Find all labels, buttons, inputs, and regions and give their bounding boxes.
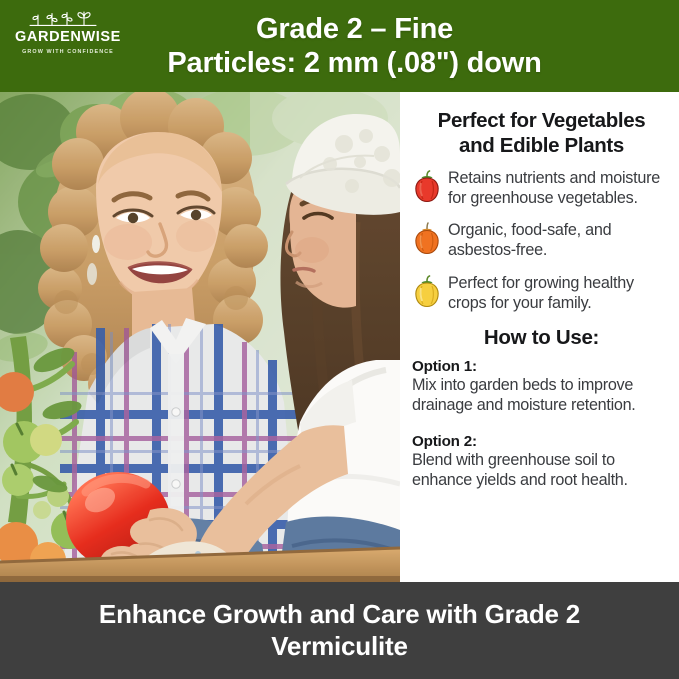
list-item: Organic, food-safe, and asbestos-free. [412,221,671,261]
brand-logo: GARDENWISE GROW WITH CONFIDENCE [14,9,122,55]
orange-bell-pepper-icon [412,222,442,256]
list-item: Perfect for growing healthy crops for yo… [412,274,671,314]
brand-wordmark: GARDENWISE [15,30,121,45]
benefit-text: Retains nutrients and moisture for green… [448,169,671,209]
header-banner: GARDENWISE GROW WITH CONFIDENCE Grade 2 … [0,0,679,92]
benefit-list: Retains nutrients and moisture for green… [412,169,671,314]
list-item: Retains nutrients and moisture for green… [412,169,671,209]
panel-heading-line1: Perfect for Vegetables [438,109,646,132]
benefits-panel: Perfect for Vegetables and Edible Plants… [400,92,679,582]
benefit-text: Perfect for growing healthy crops for yo… [448,274,671,314]
option-text: Blend with greenhouse soil to enhance yi… [412,451,671,491]
option-label: Option 1: [412,357,671,376]
option-block: Option 2: Blend with greenhouse soil to … [412,432,671,491]
header-title: Grade 2 – Fine Particles: 2 mm (.08") do… [137,12,541,80]
header-title-line2: Particles: 2 mm (.08") down [167,46,541,80]
footer-title: Enhance Growth and Care with Grade 2 Ver… [73,599,606,661]
option-block: Option 1: Mix into garden beds to improv… [412,357,671,416]
footer-title-line1: Enhance Growth and Care with Grade 2 [99,599,580,629]
lifestyle-photo [0,92,400,582]
footer-title-line2: Vermiculite [99,631,580,662]
footer-banner: Enhance Growth and Care with Grade 2 Ver… [0,582,679,679]
header-title-line1: Grade 2 – Fine [256,13,453,45]
benefit-text: Organic, food-safe, and asbestos-free. [448,221,671,261]
how-to-use-heading: How to Use: [412,326,671,350]
brand-tagline: GROW WITH CONFIDENCE [22,49,114,55]
option-text: Mix into garden beds to improve drainage… [412,376,671,416]
product-infographic: GARDENWISE GROW WITH CONFIDENCE Grade 2 … [0,0,679,679]
yellow-bell-pepper-icon [412,275,442,309]
panel-heading: Perfect for Vegetables and Edible Plants [412,108,671,159]
panel-heading-line2: and Edible Plants [412,133,671,158]
option-label: Option 2: [412,432,671,451]
red-bell-pepper-icon [412,170,442,204]
seedling-sprouts-icon [26,9,110,29]
